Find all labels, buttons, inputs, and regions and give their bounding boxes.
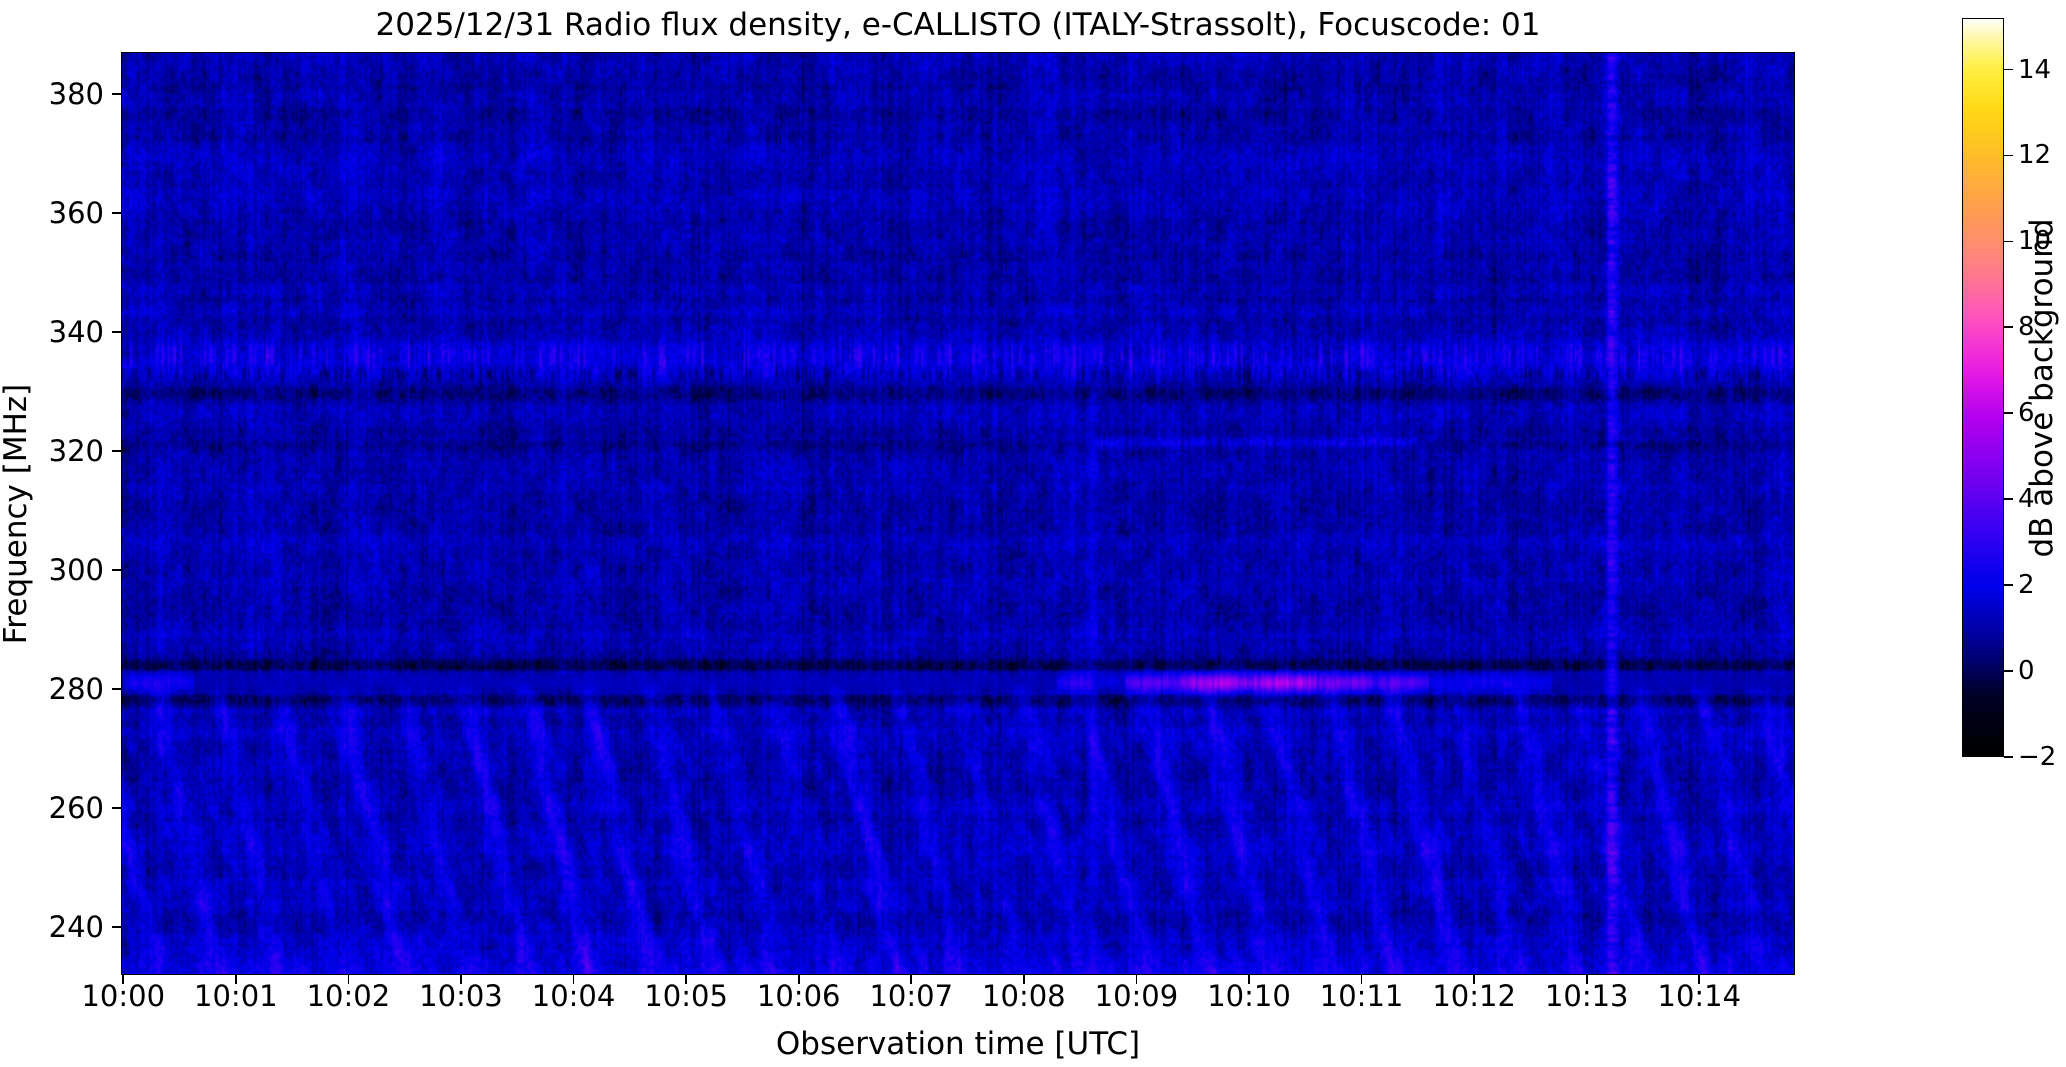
y-tick-label: 360 — [0, 199, 104, 228]
y-tick-label: 300 — [0, 556, 104, 585]
x-tick-label: 10:14 — [1619, 982, 1779, 1011]
colorbar-tick-mark — [2004, 412, 2013, 414]
y-tick-mark — [112, 688, 121, 690]
y-tick-label: 260 — [0, 794, 104, 823]
colorbar-tick-label: −2 — [2018, 744, 2056, 770]
colorbar-tick-label: 2 — [2018, 572, 2035, 598]
y-tick-mark — [112, 331, 121, 333]
colorbar-tick-label: 12 — [2018, 142, 2051, 168]
colorbar-tick-label: 0 — [2018, 658, 2035, 684]
y-tick-label: 240 — [0, 913, 104, 942]
y-tick-mark — [112, 212, 121, 214]
spectrogram-plot-area — [121, 52, 1795, 975]
spectrogram-image — [122, 53, 1794, 974]
colorbar-tick-mark — [2004, 241, 2013, 243]
colorbar — [1962, 18, 2004, 757]
y-axis-title: Frequency [MHz] — [0, 383, 34, 644]
y-tick-label: 320 — [0, 437, 104, 466]
colorbar-tick-label: 14 — [2018, 57, 2051, 83]
colorbar-tick-mark — [2004, 326, 2013, 328]
page-title: 2025/12/31 Radio flux density, e-CALLIST… — [121, 6, 1795, 44]
colorbar-tick-mark — [2004, 756, 2013, 758]
colorbar-title: dB above background — [2024, 218, 2060, 557]
colorbar-tick-mark — [2004, 155, 2013, 157]
y-tick-label: 380 — [0, 80, 104, 109]
y-tick-label: 280 — [0, 675, 104, 704]
y-tick-mark — [112, 807, 121, 809]
y-tick-mark — [112, 450, 121, 452]
colorbar-tick-mark — [2004, 498, 2013, 500]
colorbar-tick-mark — [2004, 69, 2013, 71]
y-tick-mark — [112, 569, 121, 571]
x-axis-title: Observation time [UTC] — [121, 1026, 1795, 1062]
y-tick-mark — [112, 93, 121, 95]
colorbar-tick-mark — [2004, 584, 2013, 586]
colorbar-gradient — [1963, 19, 2003, 756]
figure-root: 2025/12/31 Radio flux density, e-CALLIST… — [0, 0, 2066, 1067]
colorbar-tick-mark — [2004, 670, 2013, 672]
y-tick-mark — [112, 926, 121, 928]
y-tick-label: 340 — [0, 318, 104, 347]
